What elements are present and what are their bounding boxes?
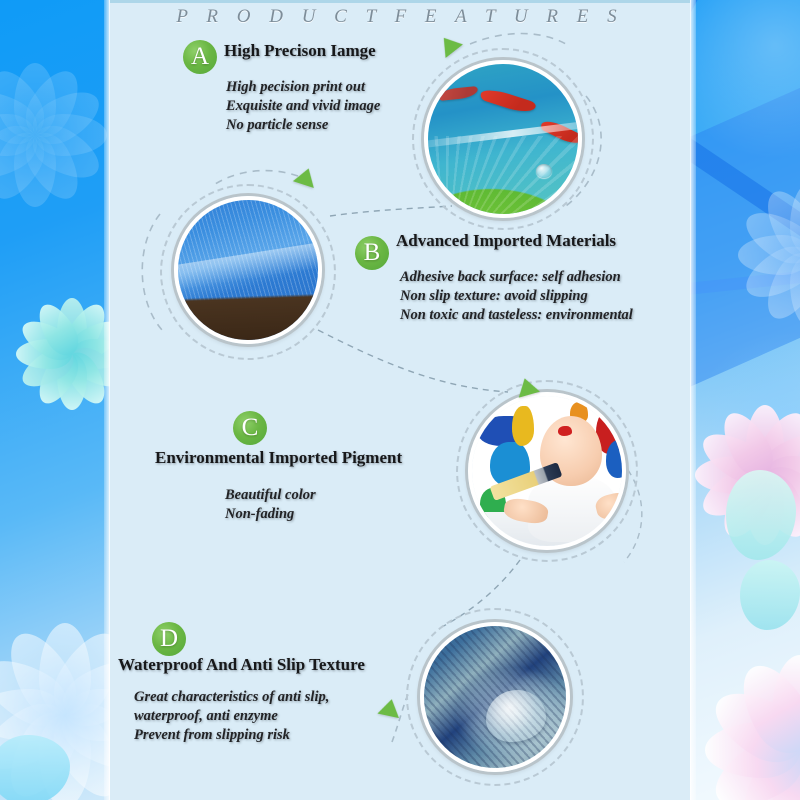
feature-line: Non-fading: [225, 505, 316, 524]
feature-title-a: High Precison Iamge: [224, 41, 376, 61]
feature-line: High pecision print out: [226, 78, 380, 97]
pink-flower-ornament: [735, 180, 800, 330]
pink-flower-ornament: [700, 650, 800, 800]
feature-title-b: Advanced Imported Materials: [396, 231, 616, 251]
feature-line: Non toxic and tasteless: environmental: [400, 306, 633, 325]
feature-badge-c: C: [233, 411, 267, 445]
fish-shape: [479, 86, 537, 117]
water-droplet: [536, 164, 552, 178]
feature-body-d: Great characteristics of anti slip, wate…: [134, 688, 329, 745]
feature-line: Prevent from slipping risk: [134, 726, 329, 745]
feature-badge-d: D: [152, 622, 186, 656]
feature-line: No particle sense: [226, 116, 380, 135]
feature-line: Exquisite and vivid image: [226, 97, 380, 116]
waterproof-texture-photo: [420, 622, 570, 772]
feature-body-b: Adhesive back surface: self adhesion Non…: [400, 268, 633, 325]
leaf-veins: [424, 136, 582, 218]
blue-blob-ornament: [0, 735, 70, 800]
photo-inner: [424, 626, 566, 768]
paint-splatter: [558, 426, 572, 436]
page-title: P R O D U C T F E A T U R E S: [0, 6, 800, 28]
feature-line: Non slip texture: avoid slipping: [400, 287, 633, 306]
infographic-stage: P R O D U C T F E A T U R E S A High Pre…: [0, 0, 800, 800]
feature-body-c: Beautiful color Non-fading: [225, 486, 316, 524]
feature-badge-a: A: [183, 40, 217, 74]
feature-title-d: Waterproof And Anti Slip Texture: [118, 655, 365, 675]
feature-line: Adhesive back surface: self adhesion: [400, 268, 633, 287]
fish-shape: [438, 86, 479, 101]
koi-pond-lotus-leaf-photo: [424, 60, 582, 218]
photo-inner: [472, 396, 622, 546]
cyan-flower-ornament: [0, 60, 110, 210]
panel-top-rule: [110, 0, 690, 3]
blue-fabric-material-photo: [174, 196, 322, 344]
fabric-fold: [174, 237, 322, 292]
water-droplet: [486, 690, 546, 742]
photo-inner: [178, 200, 318, 340]
feature-body-a: High pecision print out Exquisite and vi…: [226, 78, 380, 135]
feature-line: Great characteristics of anti slip,: [134, 688, 329, 707]
feature-line: Beautiful color: [225, 486, 316, 505]
photo-inner: [428, 64, 578, 214]
painting-baby-photo: [468, 392, 626, 550]
feature-title-c: Environmental Imported Pigment: [155, 448, 402, 468]
feature-badge-b: B: [355, 236, 389, 270]
feature-line: waterproof, anti enzyme: [134, 707, 329, 726]
paint-splatter: [512, 406, 534, 446]
